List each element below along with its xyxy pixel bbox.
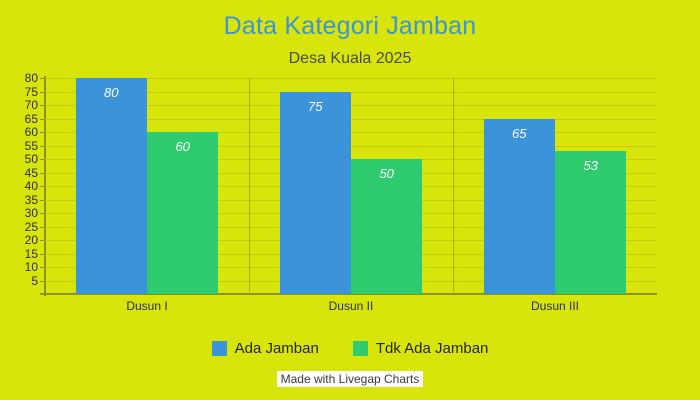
y-axis-tick-label: 25	[8, 221, 38, 233]
legend-item[interactable]: Tdk Ada Jamban	[353, 340, 489, 357]
bar-value-label: 65	[484, 126, 555, 141]
bar[interactable]: 75	[280, 92, 351, 295]
chart-container: Data Kategori Jamban Desa Kuala 2025 510…	[0, 0, 700, 400]
x-axis-category-label: Dusun III	[453, 299, 657, 313]
y-axis-tick-mark	[40, 146, 45, 147]
bar[interactable]: 53	[555, 151, 626, 294]
chart-subtitle: Desa Kuala 2025	[0, 50, 700, 68]
legend-label: Ada Jamban	[235, 340, 319, 357]
x-axis-category-label: Dusun I	[45, 299, 249, 313]
watermark-text: Made with Livegap Charts	[277, 371, 424, 387]
bar[interactable]: 50	[351, 159, 422, 294]
bar-value-label: 60	[147, 139, 218, 154]
y-axis-tick-mark	[40, 281, 45, 282]
y-axis-tick-mark	[40, 267, 45, 268]
y-axis-tick-mark	[40, 213, 45, 214]
y-axis-tick-label: 80	[8, 72, 38, 84]
legend-color-swatch	[212, 341, 227, 356]
chart-legend: Ada JambanTdk Ada Jamban	[0, 340, 700, 357]
y-axis-tick-label: 5	[8, 275, 38, 287]
bars-layer: 806075506553	[45, 78, 657, 294]
y-axis-tick-mark	[40, 132, 45, 133]
y-axis-tick-label: 65	[8, 113, 38, 125]
y-axis-tick-label: 70	[8, 99, 38, 111]
y-axis-tick-mark	[40, 78, 45, 79]
y-axis-tick-mark	[40, 254, 45, 255]
y-axis-tick-mark	[40, 119, 45, 120]
x-axis-category-labels: Dusun IDusun IIDusun III	[45, 299, 657, 319]
y-axis-tick-label: 10	[8, 261, 38, 273]
y-axis-tick-label: 35	[8, 194, 38, 206]
bar[interactable]: 65	[484, 119, 555, 295]
bar-value-label: 75	[280, 99, 351, 114]
bar[interactable]: 60	[147, 132, 218, 294]
legend-color-swatch	[353, 341, 368, 356]
y-axis-tick-label: 40	[8, 180, 38, 192]
plot-area: 806075506553	[45, 78, 657, 294]
bar-value-label: 53	[555, 158, 626, 173]
legend-label: Tdk Ada Jamban	[376, 340, 489, 357]
legend-item[interactable]: Ada Jamban	[212, 340, 319, 357]
y-axis-tick-label: 30	[8, 207, 38, 219]
y-axis-tick-label: 75	[8, 86, 38, 98]
y-axis-tick-mark	[40, 105, 45, 106]
y-axis-tick-mark	[40, 159, 45, 160]
y-axis-tick-mark	[40, 227, 45, 228]
y-axis-tick-labels: 5101520253035404550556065707580	[5, 78, 38, 294]
bar[interactable]: 80	[76, 78, 147, 294]
y-axis-tick-mark	[40, 92, 45, 93]
bar-value-label: 50	[351, 166, 422, 181]
y-axis-tick-label: 50	[8, 153, 38, 165]
watermark: Made with Livegap Charts	[0, 370, 700, 388]
y-axis-tick-label: 45	[8, 167, 38, 179]
y-axis-tick-mark	[40, 173, 45, 174]
y-axis-tick-label: 60	[8, 126, 38, 138]
y-axis-tick-label: 55	[8, 140, 38, 152]
x-axis-category-label: Dusun II	[249, 299, 453, 313]
y-axis-tick-mark	[40, 200, 45, 201]
y-axis-tick-mark	[40, 240, 45, 241]
y-axis-tick-label: 15	[8, 248, 38, 260]
y-axis-tick-mark	[40, 186, 45, 187]
chart-title: Data Kategori Jamban	[0, 12, 700, 41]
bar-value-label: 80	[76, 85, 147, 100]
y-axis-tick-label: 20	[8, 234, 38, 246]
